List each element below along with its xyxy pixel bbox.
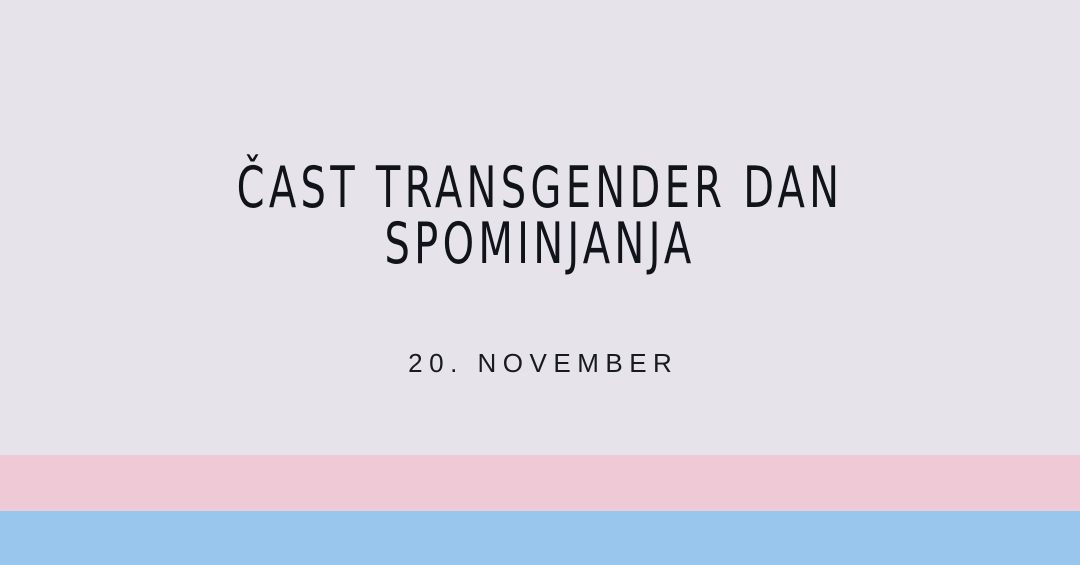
pink-stripe [0,455,1080,511]
page-title: Čast transgender dan spominjanja [90,160,990,272]
page-title-text: Čast transgender dan spominjanja [189,160,891,272]
event-date-subtitle: 20. November [90,348,990,378]
poster-canvas: Čast transgender dan spominjanja 20. Nov… [0,0,1080,565]
blue-stripe [0,511,1080,565]
poster-content-area: Čast transgender dan spominjanja 20. Nov… [0,0,1080,455]
